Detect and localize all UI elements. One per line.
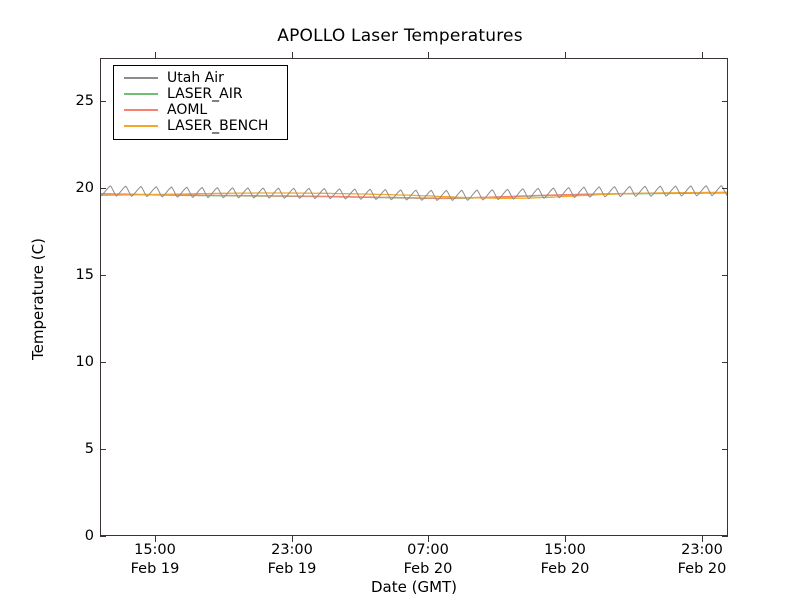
x-tick-mark [292, 52, 293, 58]
x-tick-time: 15:00 [85, 541, 225, 560]
legend-item[interactable]: LASER_AIR [120, 86, 281, 102]
legend-color-swatch [124, 93, 158, 95]
legend-color-swatch [124, 125, 158, 127]
y-tick-mark [100, 101, 106, 102]
x-tick-time: 15:00 [495, 541, 635, 560]
x-tick-label: 15:00Feb 19 [85, 541, 225, 579]
y-tick-mark [722, 449, 728, 450]
y-tick-mark [100, 536, 106, 537]
legend-item[interactable]: Utah Air [120, 70, 281, 86]
x-tick-mark [155, 52, 156, 58]
y-tick-mark [100, 188, 106, 189]
x-tick-mark [155, 536, 156, 542]
x-tick-label: 23:00Feb 19 [222, 541, 362, 579]
x-tick-mark [565, 536, 566, 542]
y-tick-label: 25 [8, 93, 94, 109]
legend-item-label: LASER_BENCH [167, 118, 268, 134]
y-tick-mark [100, 449, 106, 450]
y-tick-label: 5 [8, 441, 94, 457]
x-tick-time: 07:00 [358, 541, 498, 560]
y-tick-mark [722, 362, 728, 363]
y-tick-mark [722, 188, 728, 189]
y-tick-label: 0 [8, 528, 94, 544]
y-tick-mark [100, 275, 106, 276]
x-tick-date: Feb 19 [222, 560, 362, 579]
y-axis-label: Temperature (C) [29, 139, 47, 459]
legend-color-swatch [124, 77, 158, 79]
x-tick-date: Feb 19 [85, 560, 225, 579]
y-tick-mark [722, 536, 728, 537]
x-tick-date: Feb 20 [495, 560, 635, 579]
legend-item-label: Utah Air [167, 70, 224, 86]
x-tick-time: 23:00 [222, 541, 362, 560]
y-tick-mark [722, 101, 728, 102]
chart-legend: Utah AirLASER_AIRAOMLLASER_BENCH [113, 65, 288, 140]
x-tick-date: Feb 20 [358, 560, 498, 579]
figure-canvas: APOLLO Laser Temperatures Utah AirLASER_… [0, 0, 800, 600]
y-tick-mark [100, 362, 106, 363]
x-tick-mark [702, 52, 703, 58]
x-tick-mark [428, 52, 429, 58]
legend-item-label: LASER_AIR [167, 86, 243, 102]
y-tick-mark [722, 275, 728, 276]
x-tick-label: 07:00Feb 20 [358, 541, 498, 579]
x-tick-mark [428, 536, 429, 542]
legend-item[interactable]: LASER_BENCH [120, 118, 281, 134]
x-tick-label: 23:00Feb 20 [632, 541, 772, 579]
x-tick-date: Feb 20 [632, 560, 772, 579]
legend-item[interactable]: AOML [120, 102, 281, 118]
x-tick-time: 23:00 [632, 541, 772, 560]
x-axis-label: Date (GMT) [100, 578, 728, 596]
legend-item-label: AOML [167, 102, 207, 118]
x-tick-label: 15:00Feb 20 [495, 541, 635, 579]
x-tick-mark [702, 536, 703, 542]
x-tick-mark [565, 52, 566, 58]
legend-color-swatch [124, 109, 158, 111]
y-tick-label: 20 [8, 180, 94, 196]
x-tick-mark [292, 536, 293, 542]
y-tick-label: 15 [8, 267, 94, 283]
y-tick-label: 10 [8, 354, 94, 370]
page-title: APOLLO Laser Temperatures [0, 26, 800, 46]
